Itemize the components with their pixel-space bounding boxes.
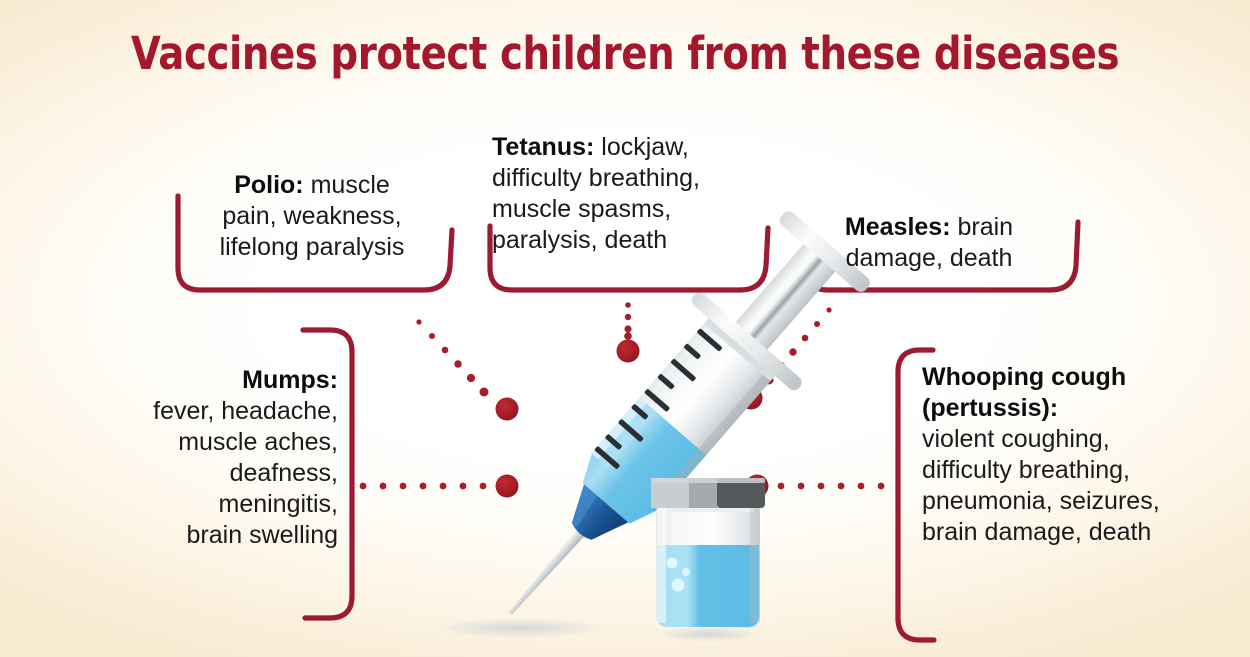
callout-mumps-line-2: fever, headache, [76,396,338,427]
vial-illustration [651,478,765,628]
syringe-shadow [424,617,616,639]
vial-cap [651,478,765,508]
connector-tetanus [617,302,640,362]
callout-polio-line-3: lifelong paralysis [176,232,448,263]
connector-whooping-cough [746,475,885,498]
callout-tetanus-label: Tetanus: [492,133,594,161]
connector-dot-polio [496,398,519,421]
callout-whooping-cough-label: Whooping cough [922,363,1126,391]
callout-tetanus-line-3: muscle spasms, [492,194,770,225]
infographic-canvas: Vaccines protect children from these dis… [0,0,1250,657]
callout-whooping-cough-line-6: brain damage, death [922,517,1234,548]
callout-measles-label: Measles: [845,213,951,241]
connector-dot-tetanus [617,340,640,363]
callout-whooping-cough-line-3: violent coughing, [922,424,1234,455]
callout-mumps-line-5: meningitis, [76,489,338,520]
callout-tetanus-line-1: Tetanus: lockjaw, [492,132,770,163]
connector-mumps [360,475,519,498]
vial-bubble [682,568,690,576]
syringe-needle [506,524,589,617]
callout-whooping-cough-line-4: difficulty breathing, [922,455,1234,486]
callout-mumps-line-1: Mumps: [76,365,338,396]
callout-tetanus: Tetanus: lockjaw, difficulty breathing, … [492,132,770,256]
callout-tetanus-line-4: paralysis, death [492,225,770,256]
callout-mumps-line-6: brain swelling [76,520,338,551]
infographic-artwork [0,0,1250,657]
callout-whooping-cough-line-5: pneumonia, seizures, [922,486,1234,517]
callout-tetanus-line-2: difficulty breathing, [492,163,770,194]
callout-polio-line-2: pain, weakness, [176,201,448,232]
page-title: Vaccines protect children from these dis… [88,28,1163,80]
callout-polio-label: Polio: [234,171,303,199]
callout-measles-line-1: Measles: brain [806,212,1052,243]
callout-whooping-cough-label-2: (pertussis): [922,394,1058,422]
connector-polio [416,319,518,420]
callout-measles: Measles: brain damage, death [806,212,1052,274]
callout-whooping-cough: Whooping cough (pertussis): violent coug… [922,362,1234,548]
callout-mumps-label: Mumps: [242,366,338,394]
callout-polio: Polio: muscle pain, weakness, lifelong p… [176,170,448,263]
callout-measles-line-2: damage, death [806,243,1052,274]
callout-mumps: Mumps: fever, headache, muscle aches, de… [76,365,338,551]
vial-bubble [667,558,678,569]
callout-whooping-cough-line-2: (pertussis): [922,393,1234,424]
connector-dot-mumps [496,475,519,498]
callout-mumps-line-4: deafness, [76,458,338,489]
callout-whooping-cough-line-1: Whooping cough [922,362,1234,393]
vial-bubble [672,579,685,592]
callout-polio-line-1: Polio: muscle [176,170,448,201]
callout-mumps-line-3: muscle aches, [76,427,338,458]
